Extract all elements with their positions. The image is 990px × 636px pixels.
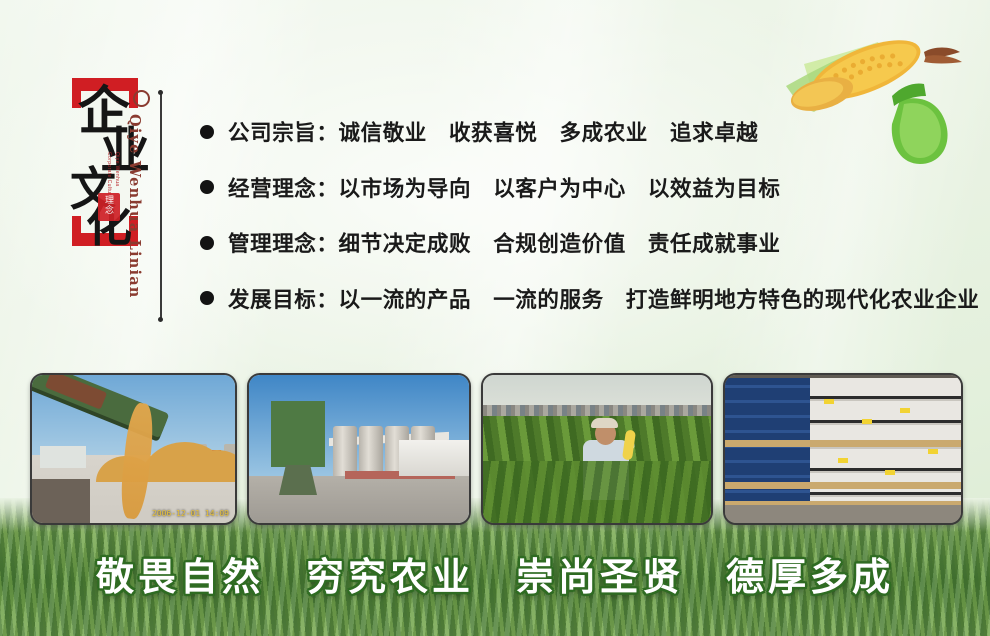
pinyin-label: Qiye Wenhua Linian [126, 114, 143, 299]
photo-timestamp-watermark: 2006-12-01 14:09 [152, 509, 229, 518]
list-item: 管理理念：细节决定成败 合规创造价值 责任成就事业 [200, 215, 979, 271]
circle-outline-icon [133, 90, 150, 107]
list-item-label: 发展目标：以一流的产品 一流的服务 打造鲜明地方特色的现代化农业企业 [228, 283, 979, 314]
list-item-label: 管理理念：细节决定成败 合规创造价值 责任成就事业 [228, 227, 781, 258]
bullet-dot-icon [200, 236, 214, 250]
list-item: 发展目标：以一流的产品 一流的服务 打造鲜明地方特色的现代化农业企业 [200, 271, 979, 327]
bullet-dot-icon [200, 180, 214, 194]
photo-strip: 2006-12-01 14:09 [0, 373, 990, 527]
list-item: 公司宗旨：诚信敬业 收获喜悦 多成农业 追求卓越 [200, 104, 979, 160]
bullet-dot-icon [200, 125, 214, 139]
seal-char-top: 理 [98, 196, 120, 206]
list-item: 经营理念：以市场为导向 以客户为中心 以效益为目标 [200, 160, 979, 216]
list-item-label: 公司宗旨：诚信敬业 收获喜悦 多成农业 追求卓越 [228, 116, 758, 147]
poster-canvas: 企 业 文 化 Corporate Culture Qiye Wenhua 理 … [0, 0, 990, 636]
bullet-dot-icon [200, 291, 214, 305]
photo-warehouse-bags [723, 373, 963, 525]
photo-corn-conveyor: 2006-12-01 14:09 [30, 373, 237, 525]
seal-char-bottom: 念 [98, 206, 120, 216]
photo-field-inspection [481, 373, 713, 525]
vertical-divider-rule [160, 92, 162, 320]
micro-english-1: Corporate Culture [106, 152, 112, 186]
red-seal-stamp: 理 念 [98, 193, 120, 221]
micro-english-2: Qiye Wenhua [114, 152, 120, 186]
list-item-label: 经营理念：以市场为导向 以客户为中心 以效益为目标 [228, 172, 781, 203]
culture-statement-list: 公司宗旨：诚信敬业 收获喜悦 多成农业 追求卓越 经营理念：以市场为导向 以客户… [200, 104, 979, 326]
photo-grain-silos [247, 373, 471, 525]
bottom-slogan: 敬畏自然 穷究农业 崇尚圣贤 德厚多成 [0, 546, 990, 601]
